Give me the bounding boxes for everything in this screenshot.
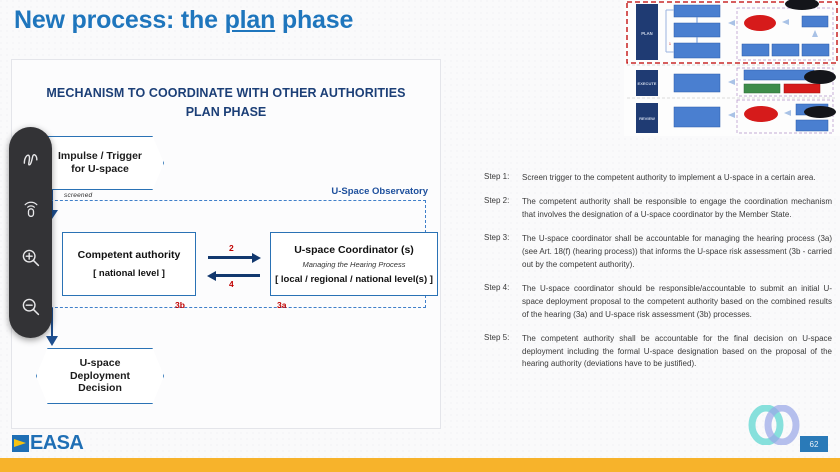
step-list: Step 1: Screen trigger to the competent … <box>484 172 832 382</box>
title-prefix: New process: the <box>14 6 225 34</box>
presenter-toolbar[interactable] <box>9 127 52 338</box>
zoom-out-tool[interactable] <box>17 292 45 320</box>
deployment-decision-hexagon: U-space Deployment Decision <box>36 348 164 404</box>
step-key: Step 4: <box>484 283 522 322</box>
zoom-out-icon <box>20 296 41 317</box>
decision-line2: Deployment <box>70 370 130 383</box>
coordinator-title: U-space Coordinator (s) <box>294 244 414 256</box>
screened-label: screened <box>64 192 92 199</box>
webex-rings-logo <box>746 405 804 445</box>
inset-process-overview-diagram: PLAN EXECUTE REVIEW 1 <box>624 0 840 136</box>
page-number-badge: 62 <box>800 436 828 452</box>
list-item: Step 4: The U-space coordinator should b… <box>484 283 832 322</box>
step-text: Screen trigger to the competent authorit… <box>522 172 832 185</box>
coordinator-subtitle: Managing the Hearing Process <box>303 260 406 269</box>
zoom-in-tool[interactable] <box>17 243 45 271</box>
step-key: Step 2: <box>484 196 522 222</box>
trigger-line2: for U-space <box>58 163 142 176</box>
slide-canvas: New process: the plan phase MECHANISM TO… <box>0 0 840 472</box>
svg-text:1: 1 <box>669 42 671 46</box>
page-title: New process: the plan phase <box>14 6 353 35</box>
footer-accent-bar <box>0 458 840 472</box>
flow-number-3a: 3a <box>277 300 286 310</box>
flow-number-4: 4 <box>229 279 234 289</box>
diagram-heading-line1: MECHANISM TO COORDINATE WITH OTHER AUTHO… <box>12 86 440 100</box>
step-key: Step 3: <box>484 233 522 272</box>
flow-number-2: 2 <box>229 243 234 253</box>
diagram-heading-line2: PLAN PHASE <box>12 105 440 119</box>
flow-number-3b: 3b <box>175 300 185 310</box>
title-suffix: phase <box>275 6 353 34</box>
trigger-hexagon: Impulse / Trigger for U-space <box>36 136 164 190</box>
arrowhead-down-2 <box>46 336 58 346</box>
step-text: The competent authority shall be account… <box>522 333 832 372</box>
svg-text:REVIEW: REVIEW <box>639 116 655 121</box>
decision-line3: Decision <box>70 382 130 395</box>
competent-authority-title: Competent authority <box>78 249 181 261</box>
pen-squiggle-icon <box>21 149 41 169</box>
laser-pointer-tool[interactable] <box>17 194 45 222</box>
step-text: The competent authority shall be respons… <box>522 196 832 222</box>
annotate-pen-tool[interactable] <box>17 145 45 173</box>
decision-line1: U-space <box>70 357 130 370</box>
easa-flag-icon <box>12 435 29 452</box>
step-key: Step 1: <box>484 172 522 185</box>
u-space-observatory-label: U-Space Observatory <box>331 186 428 197</box>
competent-authority-level: [ national level ] <box>93 268 165 279</box>
coordinator-level: [ local / regional / national level(s) ] <box>275 274 433 285</box>
zoom-in-icon <box>20 247 41 268</box>
step-text: The U-space coordinator should be respon… <box>522 283 832 322</box>
u-space-coordinator-box: U-space Coordinator (s) Managing the Hea… <box>270 232 438 296</box>
list-item: Step 2: The competent authority shall be… <box>484 196 832 222</box>
list-item: Step 5: The competent authority shall be… <box>484 333 832 372</box>
laser-pointer-icon <box>21 198 41 218</box>
easa-logo: EASA <box>12 433 83 453</box>
trigger-line1: Impulse / Trigger <box>58 150 142 163</box>
list-item: Step 3: The U-space coordinator shall be… <box>484 233 832 272</box>
step-key: Step 5: <box>484 333 522 372</box>
svg-text:PLAN: PLAN <box>641 31 652 36</box>
step-text: The U-space coordinator shall be account… <box>522 233 832 272</box>
diagram-panel: MECHANISM TO COORDINATE WITH OTHER AUTHO… <box>12 60 440 428</box>
list-item: Step 1: Screen trigger to the competent … <box>484 172 832 185</box>
title-emphasis: plan <box>225 6 276 34</box>
easa-logo-text: EASA <box>30 433 83 453</box>
competent-authority-box: Competent authority [ national level ] <box>62 232 196 296</box>
svg-text:EXECUTE: EXECUTE <box>638 81 657 86</box>
